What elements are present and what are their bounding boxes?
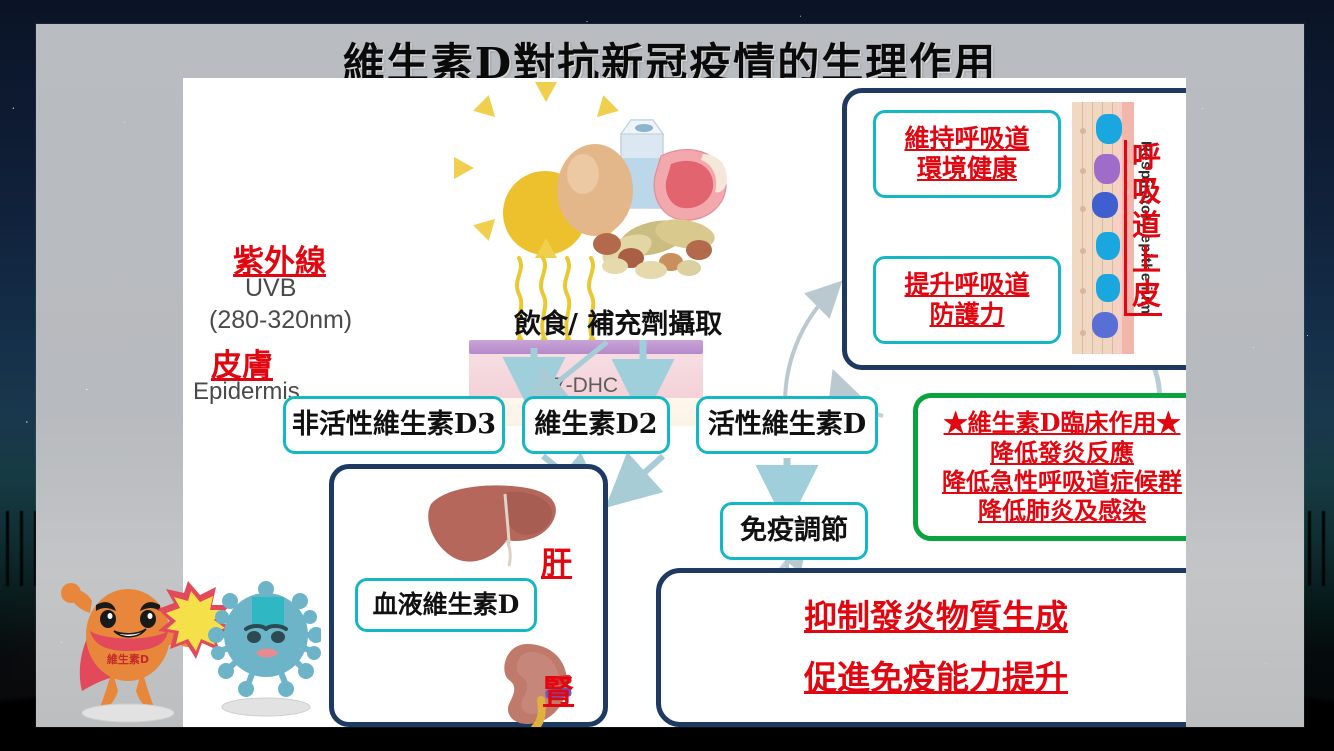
outcome-line-1: 抑制發炎物質生成 (804, 597, 1068, 637)
box-blood-vitamin-d[interactable]: 血液維生素D (355, 578, 537, 632)
liver-label: 肝 (541, 538, 572, 583)
box-vitamin-d2[interactable]: 維生素D2 (522, 396, 670, 454)
airway-epithelium-vertical-label: 呼吸道上皮 (1124, 140, 1162, 316)
box-respiratory-health[interactable]: 維持呼吸道 環境健康 (873, 110, 1061, 198)
clinical-line-2: 降低發炎反應 (990, 438, 1134, 467)
virus-mascot-icon (202, 575, 321, 721)
diagram-canvas: 紫外線 UVB (280-320nm) 皮膚 Epidermis 7-DHC (183, 78, 1186, 727)
outcome-box[interactable]: 抑制發炎物質生成 促進免疫能力提升 (656, 568, 1186, 727)
respiratory-health-line2: 環境健康 (917, 154, 1017, 185)
box-immune-regulation[interactable]: 免疫調節 (720, 502, 868, 560)
box-respiratory-defense[interactable]: 提升呼吸道 防護力 (873, 256, 1061, 344)
outcome-line-2: 促進免疫能力提升 (804, 658, 1068, 698)
mascot-group: 維生素D (36, 565, 321, 727)
clinical-effects-box[interactable]: ★維生素D臨床作用★ 降低發炎反應 降低急性呼吸道症候群 降低肺炎及感染 (913, 393, 1186, 541)
box-inactive-vitamin-d3[interactable]: 非活性維生素D3 (283, 396, 505, 454)
box-active-vitamin-d[interactable]: 活性維生素D (696, 396, 878, 454)
clinical-line-3: 降低急性呼吸道症候群 (942, 467, 1182, 496)
respiratory-defense-line1: 提升呼吸道 (904, 270, 1029, 301)
kidney-label: 腎 (543, 666, 574, 711)
respiratory-defense-line2: 防護力 (929, 300, 1004, 331)
respiratory-health-line1: 維持呼吸道 (904, 124, 1029, 155)
clinical-line-4: 降低肺炎及感染 (978, 496, 1146, 525)
hero-label-text: 維生素D (107, 652, 149, 666)
clinical-line-1: ★維生素D臨床作用★ (944, 408, 1181, 437)
